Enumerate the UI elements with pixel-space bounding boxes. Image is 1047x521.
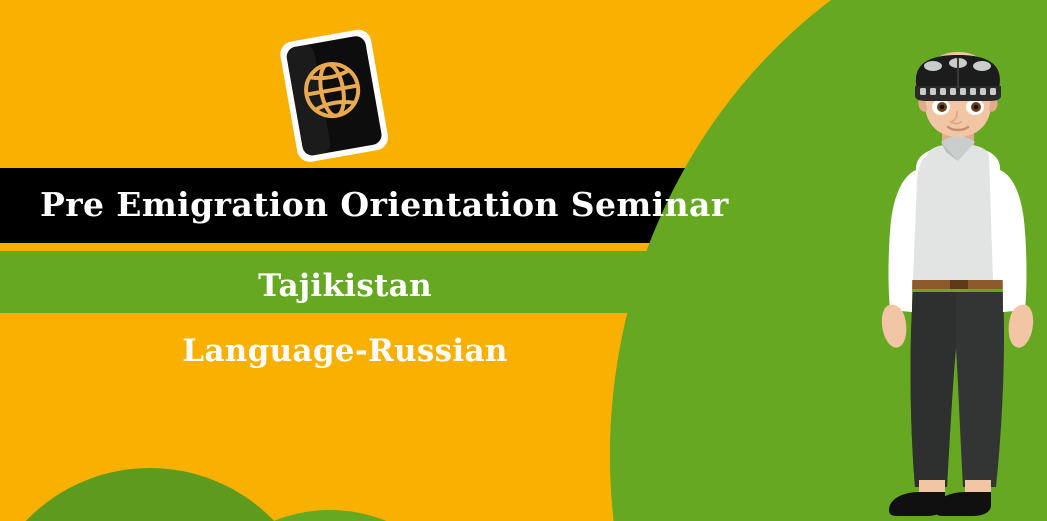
eye-left-pupil (940, 105, 945, 110)
vest (913, 145, 993, 280)
eye-right-pupil (974, 105, 979, 110)
cap-brim-band (915, 86, 1001, 101)
tajik-man-illustration (0, 0, 1047, 521)
left-ankle (919, 480, 945, 494)
trousers-shadow (911, 292, 956, 487)
right-ankle (965, 480, 991, 494)
seminar-banner: Pre Emigration Orientation Seminar Tajik… (0, 0, 1047, 521)
